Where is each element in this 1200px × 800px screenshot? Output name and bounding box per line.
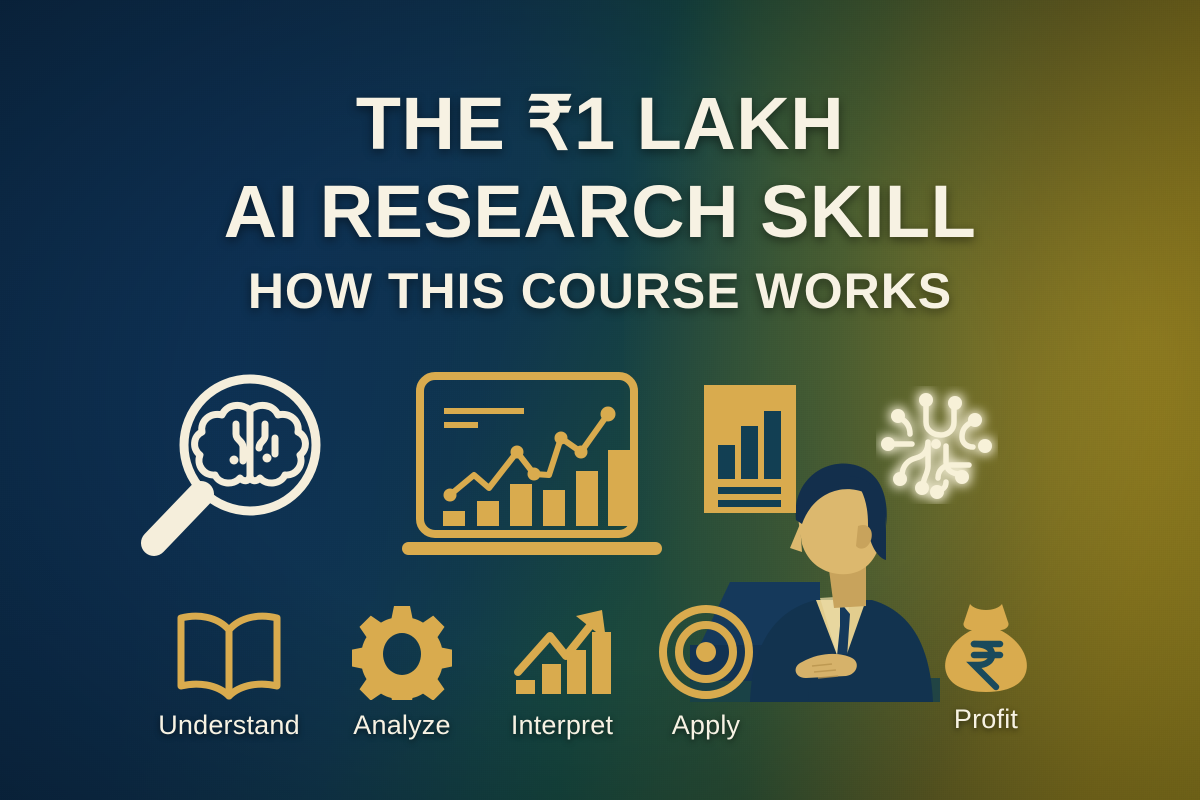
- open-book-icon: [139, 604, 319, 700]
- headline-line-2: AI RESEARCH SKILL: [0, 170, 1200, 254]
- bag-neck: [963, 604, 1008, 630]
- neural-network-icon: [876, 386, 998, 504]
- step-label: Profit: [896, 704, 1076, 735]
- gear-icon: [312, 604, 492, 700]
- step-apply[interactable]: Apply: [616, 604, 796, 741]
- laptop-chart-bars: [443, 450, 630, 526]
- laptop-base: [402, 542, 662, 555]
- magnifier-brain-icon: [126, 366, 336, 571]
- headline-block: THE ₹1 LAKH AI RESEARCH SKILL HOW THIS C…: [0, 82, 1200, 320]
- step-label: Understand: [139, 710, 319, 741]
- headline-line-1: THE ₹1 LAKH: [0, 82, 1200, 166]
- step-understand[interactable]: Understand: [139, 604, 319, 741]
- headline-line-3: HOW THIS COURSE WORKS: [0, 262, 1200, 320]
- target-icon: [616, 604, 796, 700]
- step-profit[interactable]: Profit: [896, 598, 1076, 735]
- brain-node-dot: [230, 456, 239, 465]
- step-label: Apply: [616, 710, 796, 741]
- step-label: Analyze: [312, 710, 492, 741]
- nose: [790, 524, 802, 552]
- money-bag-rupee-icon: [896, 598, 1076, 694]
- document-report-icon: [702, 383, 798, 515]
- brain-node-dot: [263, 454, 272, 463]
- step-analyze[interactable]: Analyze: [312, 604, 492, 741]
- laptop-chart-icon: [396, 370, 668, 568]
- poster-canvas: THE ₹1 LAKH AI RESEARCH SKILL HOW THIS C…: [0, 0, 1200, 800]
